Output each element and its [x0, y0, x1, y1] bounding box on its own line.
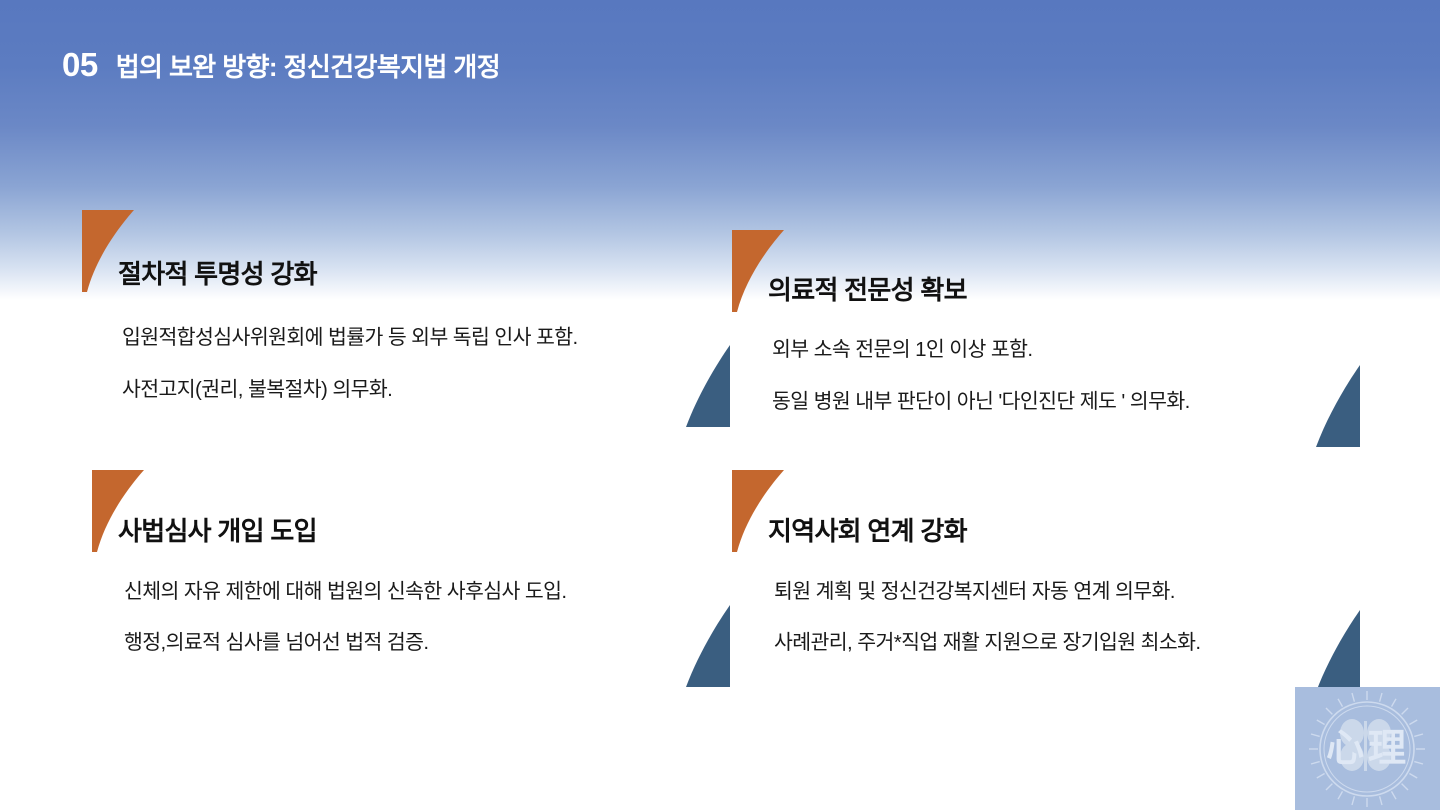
svg-text:心: 心 [1326, 726, 1364, 770]
card-body-line: 사전고지(권리, 불복절차) 의무화. [122, 380, 392, 401]
card-procedural-transparency: 절차적 투명성 강화 입원적합성심사위원회에 법률가 등 외부 독립 인사 포함… [70, 205, 730, 455]
card-body-line: 행정,의료적 심사를 넘어선 법적 검증. [124, 633, 428, 654]
card-heading: 절차적 투명성 강화 [118, 261, 317, 287]
card-heading: 사법심사 개입 도입 [118, 518, 317, 544]
section-number: 05 [62, 48, 98, 81]
slide-header: 05 법의 보완 방향: 정신건강복지법 개정 [62, 48, 500, 81]
card-body-line: 신체의 자유 제한에 대해 법원의 신속한 사후심사 도입. [124, 582, 566, 603]
card-body-line: 외부 소속 전문의 1인 이상 포함. [772, 340, 1033, 361]
card-community-linkage: 지역사회 연계 강화 퇴원 계획 및 정신건강복지센터 자동 연계 의무화. 사… [720, 465, 1380, 715]
slide-title: 법의 보완 방향: 정신건강복지법 개정 [116, 54, 500, 80]
card-heading: 의료적 전문성 확보 [768, 277, 967, 303]
brand-logo: 心 理 [1295, 687, 1440, 810]
card-body-line: 퇴원 계획 및 정신건강복지센터 자동 연계 의무화. [774, 582, 1175, 603]
psychology-brain-logo-icon: 心 理 [1295, 687, 1440, 810]
svg-text:理: 理 [1368, 726, 1406, 770]
card-body-line: 사례관리, 주거*직업 재활 지원으로 장기입원 최소화. [774, 633, 1201, 654]
card-body-line: 입원적합성심사위원회에 법률가 등 외부 독립 인사 포함. [122, 328, 578, 349]
card-medical-expertise: 의료적 전문성 확보 외부 소속 전문의 1인 이상 포함. 동일 병원 내부 … [720, 225, 1380, 475]
blue-sail-icon [1316, 365, 1360, 447]
card-heading: 지역사회 연계 강화 [768, 518, 967, 544]
card-judicial-review: 사법심사 개입 도입 신체의 자유 제한에 대해 법원의 신속한 사후심사 도입… [70, 465, 730, 715]
blue-sail-icon [1316, 610, 1360, 692]
presentation-slide: 05 법의 보완 방향: 정신건강복지법 개정 절차적 투명성 강화 입원적합성… [0, 0, 1440, 810]
card-body-line: 동일 병원 내부 판단이 아닌 '다인진단 제도 ' 의무화. [772, 392, 1190, 413]
